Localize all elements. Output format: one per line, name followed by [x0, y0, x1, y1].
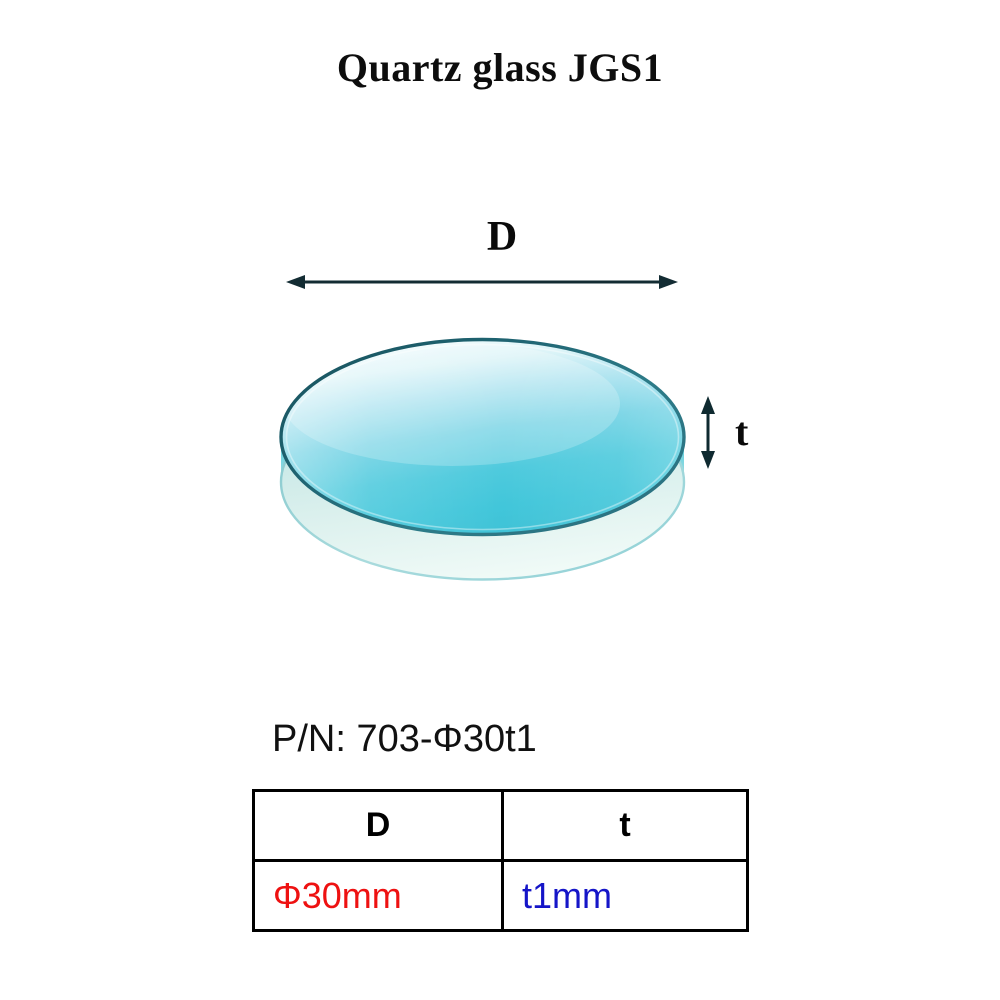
disc-diagram: D t	[0, 0, 1000, 700]
disc-illustration	[0, 0, 1000, 700]
table-header-thickness: t	[503, 791, 748, 861]
spec-table: D t Φ30mm t1mm	[252, 789, 749, 932]
table-cell-diameter-value: Φ30mm	[254, 861, 503, 931]
diameter-arrow	[286, 275, 678, 289]
table-header-diameter: D	[254, 791, 503, 861]
part-number: P/N: 703-Φ30t1	[272, 718, 537, 761]
table-header-row: D t	[254, 791, 748, 861]
table-row: Φ30mm t1mm	[254, 861, 748, 931]
table-cell-thickness-value: t1mm	[503, 861, 748, 931]
thickness-arrow	[701, 396, 715, 469]
disc-top-highlight	[284, 342, 620, 466]
